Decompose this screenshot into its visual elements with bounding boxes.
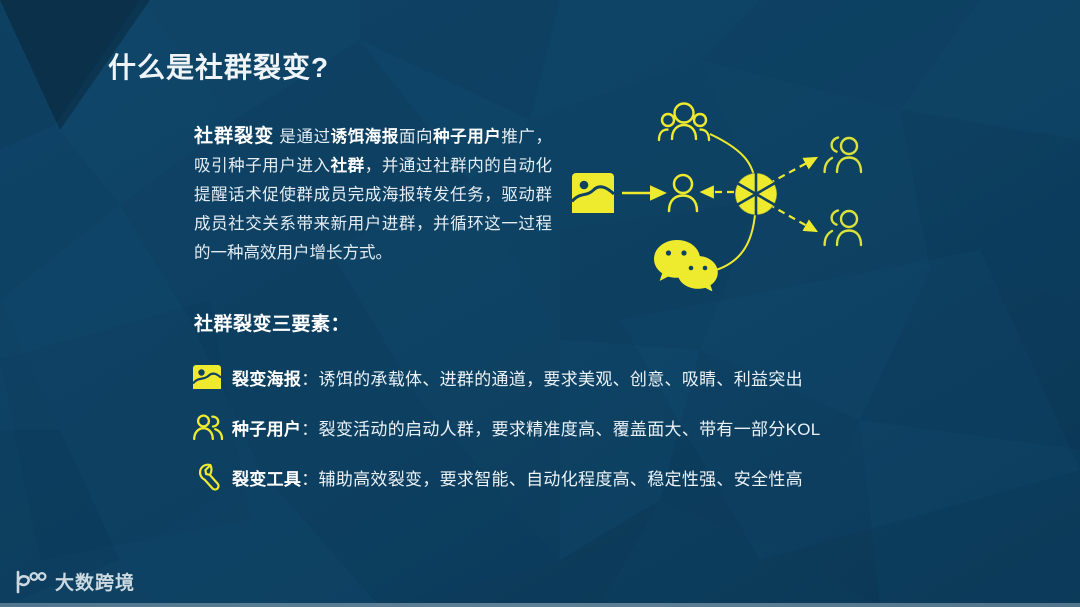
definition-text: 是通过 — [274, 128, 330, 146]
list-item: 种子用户：裂变活动的启动人群，要求精准度高、覆盖面大、带有一部分KOL — [192, 402, 992, 452]
list-item-description: 辅助高效裂变，要求智能、自动化程度高、稳定性强、安全性高 — [319, 470, 803, 489]
definition-text: 面向 — [399, 128, 433, 146]
list-item-label: 种子用户 — [232, 420, 301, 439]
list-item-separator: ： — [301, 470, 318, 489]
diagram-seed-user-node — [669, 175, 697, 211]
list-item-label: 裂变海报 — [232, 370, 301, 389]
diagram-arrow-engine-to-users-bottom — [768, 204, 816, 231]
diagram-new-users-top — [825, 138, 861, 173]
three-elements-list: 裂变海报：诱饵的承载体、进群的通道，要求美观、创意、吸睛、利益突出 种子用户：裂… — [192, 352, 992, 502]
diagram-wechat-node — [654, 240, 718, 291]
diagram-aperture-icon — [735, 173, 777, 215]
list-item-text: 裂变海报：诱饵的承载体、进群的通道，要求美观、创意、吸睛、利益突出 — [232, 365, 803, 390]
slide-root: 什么是社群裂变? 社群裂变 是通过诱饵海报面向种子用户推广，吸引种子用户进入社群… — [0, 0, 1080, 607]
wrench-tool-icon — [192, 460, 232, 494]
definition-lead-term: 社群裂变 — [194, 126, 274, 147]
diagram-group-node — [659, 104, 709, 141]
brand-mark-icon — [14, 570, 48, 594]
definition-emphasis: 种子用户 — [433, 128, 501, 146]
diagram-new-users-bottom — [825, 211, 861, 246]
poster-image-icon — [192, 360, 232, 394]
list-item-text: 种子用户：裂变活动的启动人群，要求精准度高、覆盖面大、带有一部分KOL — [232, 415, 821, 440]
list-item-description: 诱饵的承载体、进群的通道，要求美观、创意、吸睛、利益突出 — [319, 370, 803, 389]
list-item: 裂变海报：诱饵的承载体、进群的通道，要求美观、创意、吸睛、利益突出 — [192, 352, 992, 402]
list-item-separator: ： — [301, 370, 318, 389]
footer-divider — [0, 603, 1080, 607]
brand-name: 大数跨境 — [55, 568, 135, 595]
brand-logo: 大数跨境 — [14, 568, 135, 595]
diagram-poster-node — [572, 173, 614, 213]
list-item-label: 裂变工具 — [232, 470, 301, 489]
definition-paragraph: 社群裂变 是通过诱饵海报面向种子用户推广，吸引种子用户进入社群，并通过社群内的自… — [194, 122, 552, 268]
list-item-separator: ： — [301, 420, 318, 439]
fission-flow-diagram — [560, 96, 890, 291]
list-item-description: 裂变活动的启动人群，要求精准度高、覆盖面大、带有一部分KOL — [319, 420, 821, 439]
definition-emphasis: 诱饵海报 — [331, 128, 399, 146]
seed-users-icon — [192, 410, 232, 444]
page-title: 什么是社群裂变? — [108, 46, 329, 86]
list-item-text: 裂变工具：辅助高效裂变，要求智能、自动化程度高、稳定性强、安全性高 — [232, 465, 803, 490]
definition-emphasis: 社群 — [331, 157, 365, 175]
section-subheading: 社群裂变三要素： — [194, 309, 350, 336]
list-item: 裂变工具：辅助高效裂变，要求智能、自动化程度高、稳定性强、安全性高 — [192, 452, 992, 502]
diagram-arrow-engine-to-users-top — [768, 158, 816, 184]
definition-body: 是通过诱饵海报面向种子用户推广，吸引种子用户进入社群，并通过社群内的自动化提醒话… — [194, 128, 552, 262]
background-texture — [0, 0, 1080, 607]
